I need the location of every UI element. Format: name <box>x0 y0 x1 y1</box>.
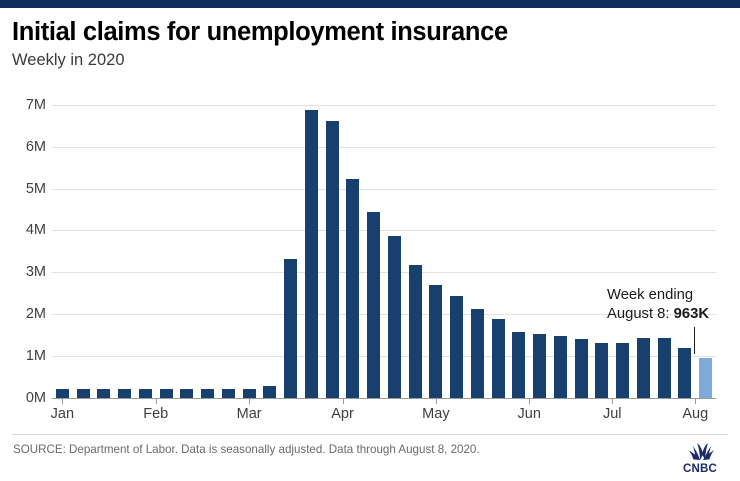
bar <box>139 389 152 398</box>
page-subtitle: Weekly in 2020 <box>12 49 728 71</box>
bar <box>616 343 629 398</box>
y-axis-tick-label: 4M <box>26 222 46 238</box>
footer-divider <box>12 434 728 435</box>
callout-annotation: Week ending August 8: 963K <box>607 286 709 324</box>
bar <box>118 389 131 398</box>
chart-container: Initial claims for unemployment insuranc… <box>0 0 740 481</box>
y-axis-tick-label: 6M <box>26 139 46 155</box>
x-axis-tick-label: Apr <box>331 406 354 422</box>
bar <box>471 309 484 398</box>
bar <box>346 179 359 398</box>
x-axis-tick-mark <box>249 398 250 404</box>
cnbc-peacock-logo: CNBC <box>672 441 728 475</box>
y-axis-tick-label: 7M <box>26 97 46 113</box>
page-title: Initial claims for unemployment insuranc… <box>12 17 728 47</box>
source-note: SOURCE: Department of Labor. Data is sea… <box>13 443 480 456</box>
x-axis-tick-label: Feb <box>143 406 168 422</box>
x-axis-tick-mark <box>529 398 530 404</box>
x-axis-tick-label: Aug <box>682 406 708 422</box>
y-axis-tick-label: 2M <box>26 306 46 322</box>
x-axis-tick-label: Jul <box>603 406 622 422</box>
bar <box>637 338 650 398</box>
y-axis: 0M1M2M3M4M5M6M7M <box>0 88 52 398</box>
x-axis-tick-label: May <box>422 406 449 422</box>
y-axis-tick-label: 5M <box>26 181 46 197</box>
x-axis-tick-mark <box>62 398 63 404</box>
bar <box>160 389 173 398</box>
bar <box>201 389 214 398</box>
bar <box>56 389 69 398</box>
bar <box>326 121 339 398</box>
bar <box>284 259 297 398</box>
x-axis-tick-mark <box>156 398 157 404</box>
bar <box>243 389 256 398</box>
x-axis-tick-label: Mar <box>237 406 262 422</box>
x-axis: JanFebMarAprMayJunJulAug <box>52 398 716 438</box>
bar <box>554 336 567 398</box>
svg-text:CNBC: CNBC <box>683 463 717 475</box>
y-axis-tick-label: 0M <box>26 390 46 406</box>
callout-date: August 8: <box>607 306 674 322</box>
callout-value: 963K <box>674 306 709 322</box>
bar <box>450 296 463 398</box>
x-axis-tick-mark <box>612 398 613 404</box>
plot-area: 0M1M2M3M4M5M6M7M JanFebMarAprMayJunJulAu… <box>0 88 740 408</box>
x-axis-tick-mark <box>343 398 344 404</box>
bar <box>409 265 422 398</box>
x-axis-tick-mark <box>695 398 696 404</box>
bar <box>77 389 90 398</box>
bar <box>658 338 671 398</box>
bar <box>263 386 276 398</box>
bar <box>575 339 588 398</box>
bar <box>367 212 380 398</box>
callout-connector-line <box>694 327 695 354</box>
y-axis-tick-label: 3M <box>26 264 46 280</box>
top-accent-bar <box>0 0 740 8</box>
y-axis-tick-label: 1M <box>26 348 46 364</box>
bar <box>305 110 318 398</box>
bar <box>222 389 235 398</box>
callout-line-1: Week ending <box>607 286 709 305</box>
x-axis-tick-label: Jun <box>518 406 541 422</box>
x-axis-tick-label: Jan <box>51 406 74 422</box>
bar <box>492 319 505 398</box>
bar-series <box>52 88 716 398</box>
callout-line-2: August 8: 963K <box>607 305 709 324</box>
bar <box>180 389 193 398</box>
bar <box>595 343 608 398</box>
bar-highlighted <box>699 358 712 398</box>
x-axis-tick-mark <box>436 398 437 404</box>
bar <box>97 389 110 398</box>
bar <box>533 334 546 399</box>
bar <box>429 285 442 398</box>
bar <box>512 332 525 398</box>
bar <box>388 236 401 398</box>
chart-header: Initial claims for unemployment insuranc… <box>12 17 728 71</box>
bar <box>678 348 691 398</box>
